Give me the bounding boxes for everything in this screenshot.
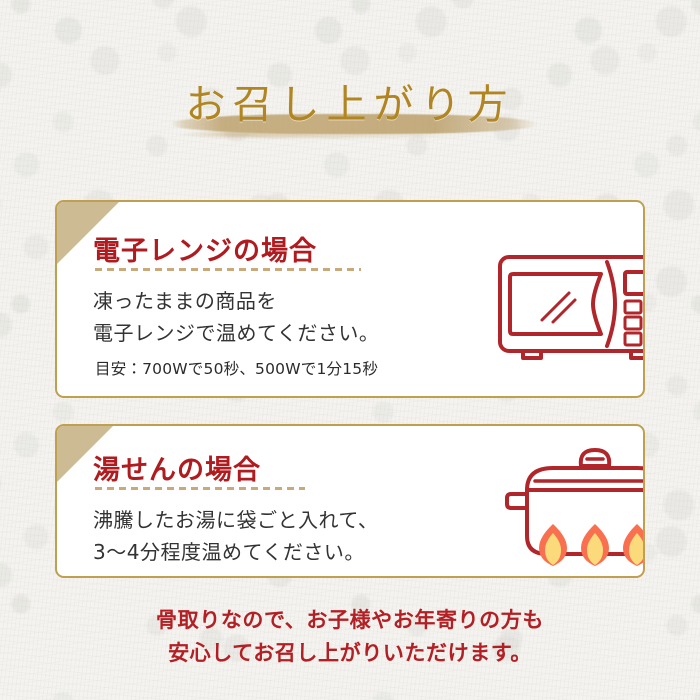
page-title: お召し上がり方 bbox=[0, 78, 700, 132]
card-boil-divider bbox=[95, 487, 305, 490]
card-microwave-note: 目安：700Wで50秒、500Wで1分15秒 bbox=[95, 357, 378, 379]
page-title-block: お召し上がり方 bbox=[0, 78, 700, 148]
card-microwave-line-2: 電子レンジで温めてください。 bbox=[93, 317, 379, 346]
footer-note: 骨取りなので、お子様やお年寄りの方も 安心してお召し上がりいただけます。 bbox=[0, 604, 700, 670]
card-microwave-line-1: 凍ったままの商品を bbox=[93, 285, 277, 314]
card-boil-line-2: 3〜4分程度温めてください。 bbox=[93, 536, 365, 565]
footer-line-1: 骨取りなので、お子様やお年寄りの方も bbox=[0, 604, 700, 637]
card-boil-heading: 湯せんの場合 bbox=[93, 448, 261, 487]
microwave-icon bbox=[497, 254, 645, 370]
instruction-card-boil: 湯せんの場合 沸騰したお湯に袋ごと入れて、 3〜4分程度温めてください。 bbox=[55, 424, 645, 578]
footer-line-2: 安心してお召し上がりいただけます。 bbox=[0, 637, 700, 670]
card-microwave-divider bbox=[95, 268, 361, 271]
card-microwave-heading: 電子レンジの場合 bbox=[93, 229, 317, 268]
pot-with-flames-icon bbox=[505, 438, 645, 574]
card-boil-line-1: 沸騰したお湯に袋ごと入れて、 bbox=[93, 504, 378, 533]
instruction-card-microwave: 電子レンジの場合 凍ったままの商品を 電子レンジで温めてください。 目安：700… bbox=[55, 200, 645, 398]
